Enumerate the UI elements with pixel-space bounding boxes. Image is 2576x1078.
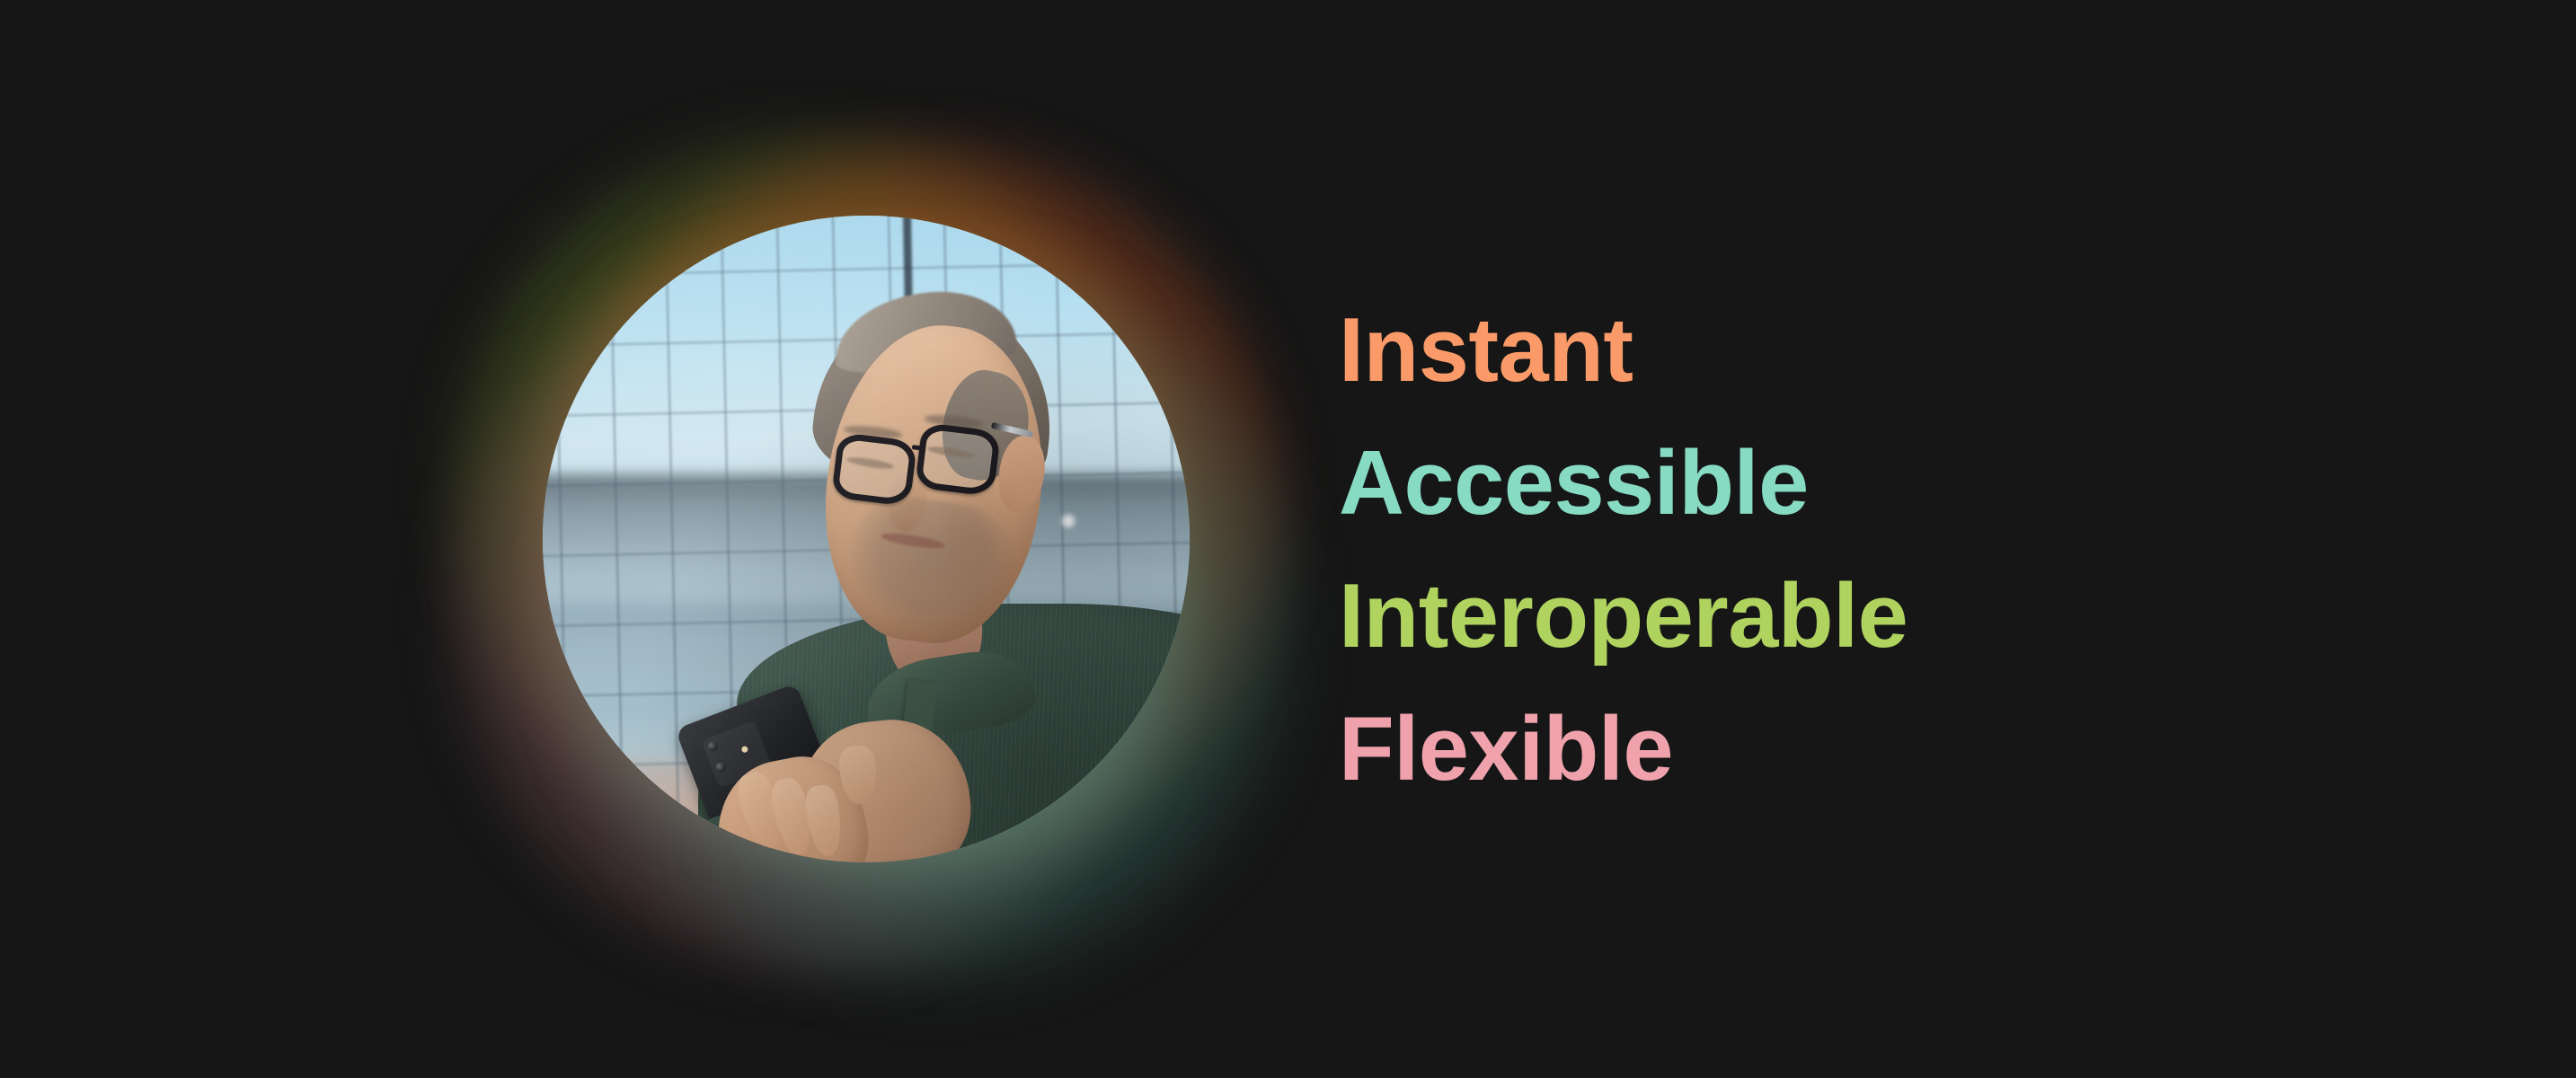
portrait-subject [543,216,1190,862]
camera-lens-icon [714,761,727,773]
headline-word-accessible: Accessible [1339,417,1908,550]
value-proposition-list: Instant Accessible Interoperable Flexibl… [1339,284,1908,816]
eyeglass-temple [991,422,1033,437]
headline-word-flexible: Flexible [1339,683,1908,816]
hero-banner: Instant Accessible Interoperable Flexibl… [0,0,2576,1078]
headline-word-interoperable: Interoperable [1339,550,1908,683]
camera-lens-icon [706,740,719,753]
portrait-scene [543,216,1190,862]
eyeglass-lens-left [831,432,917,508]
headline-word-instant: Instant [1339,284,1908,417]
camera-flash-icon [741,746,749,754]
eyeglass-lens-right [914,422,1000,498]
circular-portrait [543,216,1190,862]
